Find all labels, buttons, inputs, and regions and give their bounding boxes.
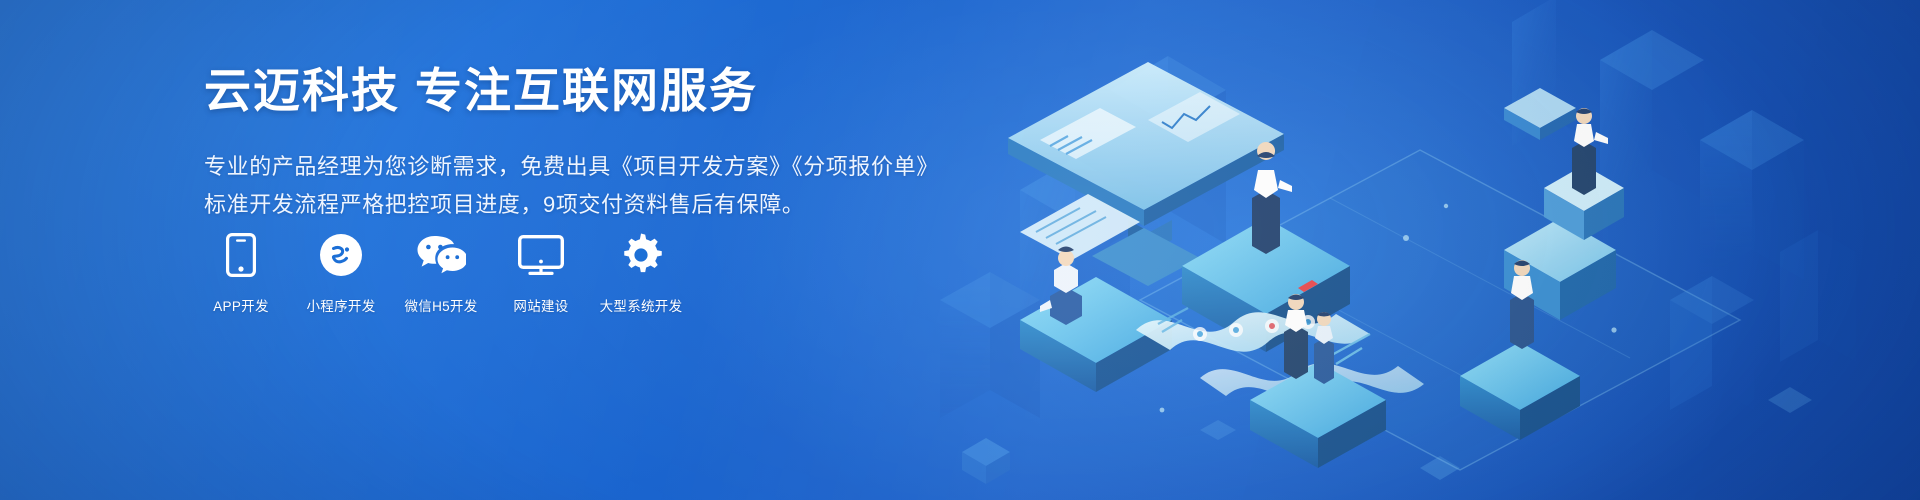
hero-subtitle: 专业的产品经理为您诊断需求，免费出具《项目开发方案》《分项报价单》 标准开发流程… (204, 148, 924, 224)
service-label-website: 网站建设 (513, 295, 568, 315)
hero-subtitle-line-2: 标准开发流程严格把控项目进度，9项交付资料售后有保障。 (204, 186, 924, 224)
mobile-phone-icon (226, 232, 256, 278)
service-label-app: APP开发 (213, 295, 269, 315)
service-list: APP开发 小程序开发 (204, 232, 678, 315)
hero-banner: 云迈科技 专注互联网服务 专业的产品经理为您诊断需求，免费出具《项目开发方案》《… (0, 0, 1920, 500)
hero-subtitle-line-1: 专业的产品经理为您诊断需求，免费出具《项目开发方案》《分项报价单》 (204, 148, 924, 186)
hero-illustration (900, 0, 1920, 500)
wechat-icon (416, 232, 466, 278)
foreground-blocks-right (1670, 230, 1856, 410)
service-item-large-system[interactable]: 大型系统开发 (604, 232, 678, 315)
service-item-wechat-h5[interactable]: 微信H5开发 (404, 232, 478, 315)
mini-program-icon (320, 232, 362, 278)
service-item-app[interactable]: APP开发 (204, 232, 278, 315)
service-label-mini-program: 小程序开发 (307, 295, 376, 315)
gear-icon (619, 232, 663, 278)
service-label-large-system: 大型系统开发 (600, 295, 683, 315)
hero-text-block: 云迈科技 专注互联网服务 专业的产品经理为您诊断需求，免费出具《项目开发方案》《… (204, 62, 924, 223)
service-item-website[interactable]: 网站建设 (504, 232, 578, 315)
monitor-icon (518, 232, 564, 278)
service-label-wechat-h5: 微信H5开发 (404, 295, 477, 315)
page-title: 云迈科技 专注互联网服务 (204, 62, 924, 121)
service-item-mini-program[interactable]: 小程序开发 (304, 232, 378, 315)
